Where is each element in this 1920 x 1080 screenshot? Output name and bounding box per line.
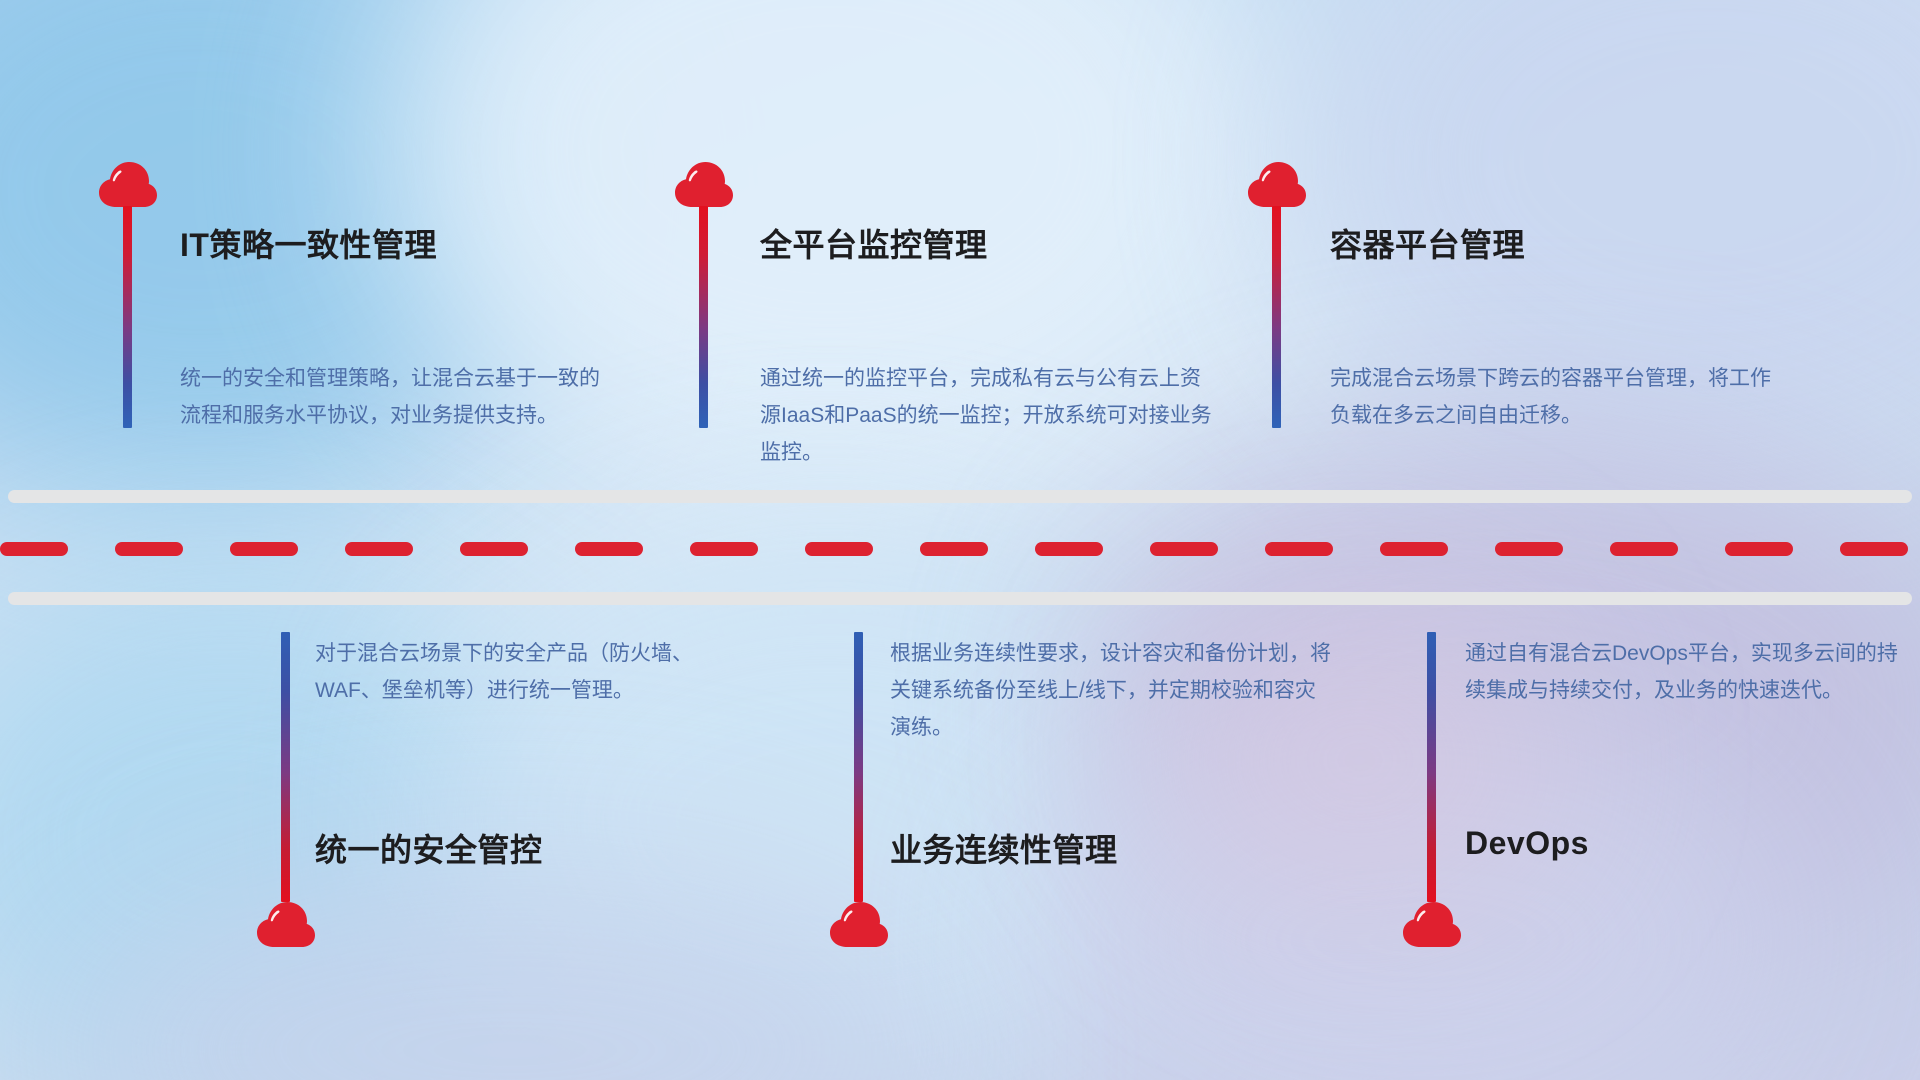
road-dash	[1035, 542, 1103, 556]
road-dash	[1725, 542, 1793, 556]
top-body-3: 完成混合云场景下跨云的容器平台管理，将工作负载在多云之间自由迁移。	[1330, 360, 1780, 434]
road-dash	[1265, 542, 1333, 556]
road-dash	[1380, 542, 1448, 556]
top-marker-1	[96, 160, 160, 208]
cloud-icon	[672, 160, 736, 208]
road-rail-bottom	[8, 592, 1912, 605]
bottom-heading-2: 业务连续性管理	[890, 825, 1118, 871]
road-dash	[920, 542, 988, 556]
top-body-2: 通过统一的监控平台，完成私有云与公有云上资源IaaS和PaaS的统一监控；开放系…	[760, 360, 1220, 471]
road-dash	[1840, 542, 1908, 556]
bottom-stem-2	[854, 632, 863, 902]
top-stem-1	[123, 206, 132, 428]
top-heading-2: 全平台监控管理	[760, 220, 988, 266]
road-dash	[575, 542, 643, 556]
top-heading-1: IT策略一致性管理	[180, 220, 437, 266]
road-dash	[1495, 542, 1563, 556]
top-marker-3	[1245, 160, 1309, 208]
bottom-heading-3: DevOps	[1465, 825, 1589, 862]
top-stem-2	[699, 206, 708, 428]
road-dash	[115, 542, 183, 556]
infographic-stage: IT策略一致性管理 统一的安全和管理策略，让混合云基于一致的流程和服务水平协议，…	[0, 0, 1920, 1080]
cloud-icon	[96, 160, 160, 208]
top-stem-3	[1272, 206, 1281, 428]
road-dash	[0, 542, 68, 556]
road-dash	[805, 542, 873, 556]
cloud-icon	[1245, 160, 1309, 208]
road-dash	[690, 542, 758, 556]
bottom-heading-1: 统一的安全管控	[315, 825, 543, 871]
top-marker-2	[672, 160, 736, 208]
bottom-body-2: 根据业务连续性要求，设计容灾和备份计划，将关键系统备份至线上/线下，并定期校验和…	[890, 635, 1335, 746]
road-rail-top	[8, 490, 1912, 503]
bottom-stem-3	[1427, 632, 1436, 902]
cloud-icon	[1400, 900, 1464, 948]
road-dash	[1610, 542, 1678, 556]
top-body-1: 统一的安全和管理策略，让混合云基于一致的流程和服务水平协议，对业务提供支持。	[180, 360, 610, 434]
bottom-body-1: 对于混合云场景下的安全产品（防火墙、WAF、堡垒机等）进行统一管理。	[315, 635, 740, 709]
bottom-stem-1	[281, 632, 290, 902]
road-dash	[345, 542, 413, 556]
road-dash	[230, 542, 298, 556]
bottom-body-3: 通过自有混合云DevOps平台，实现多云间的持续集成与持续交付，及业务的快速迭代…	[1465, 635, 1905, 709]
top-heading-3: 容器平台管理	[1330, 220, 1525, 266]
road-dash	[1150, 542, 1218, 556]
road-dashed-center-line	[0, 542, 1920, 556]
cloud-icon	[254, 900, 318, 948]
cloud-icon	[827, 900, 891, 948]
road-dash	[460, 542, 528, 556]
